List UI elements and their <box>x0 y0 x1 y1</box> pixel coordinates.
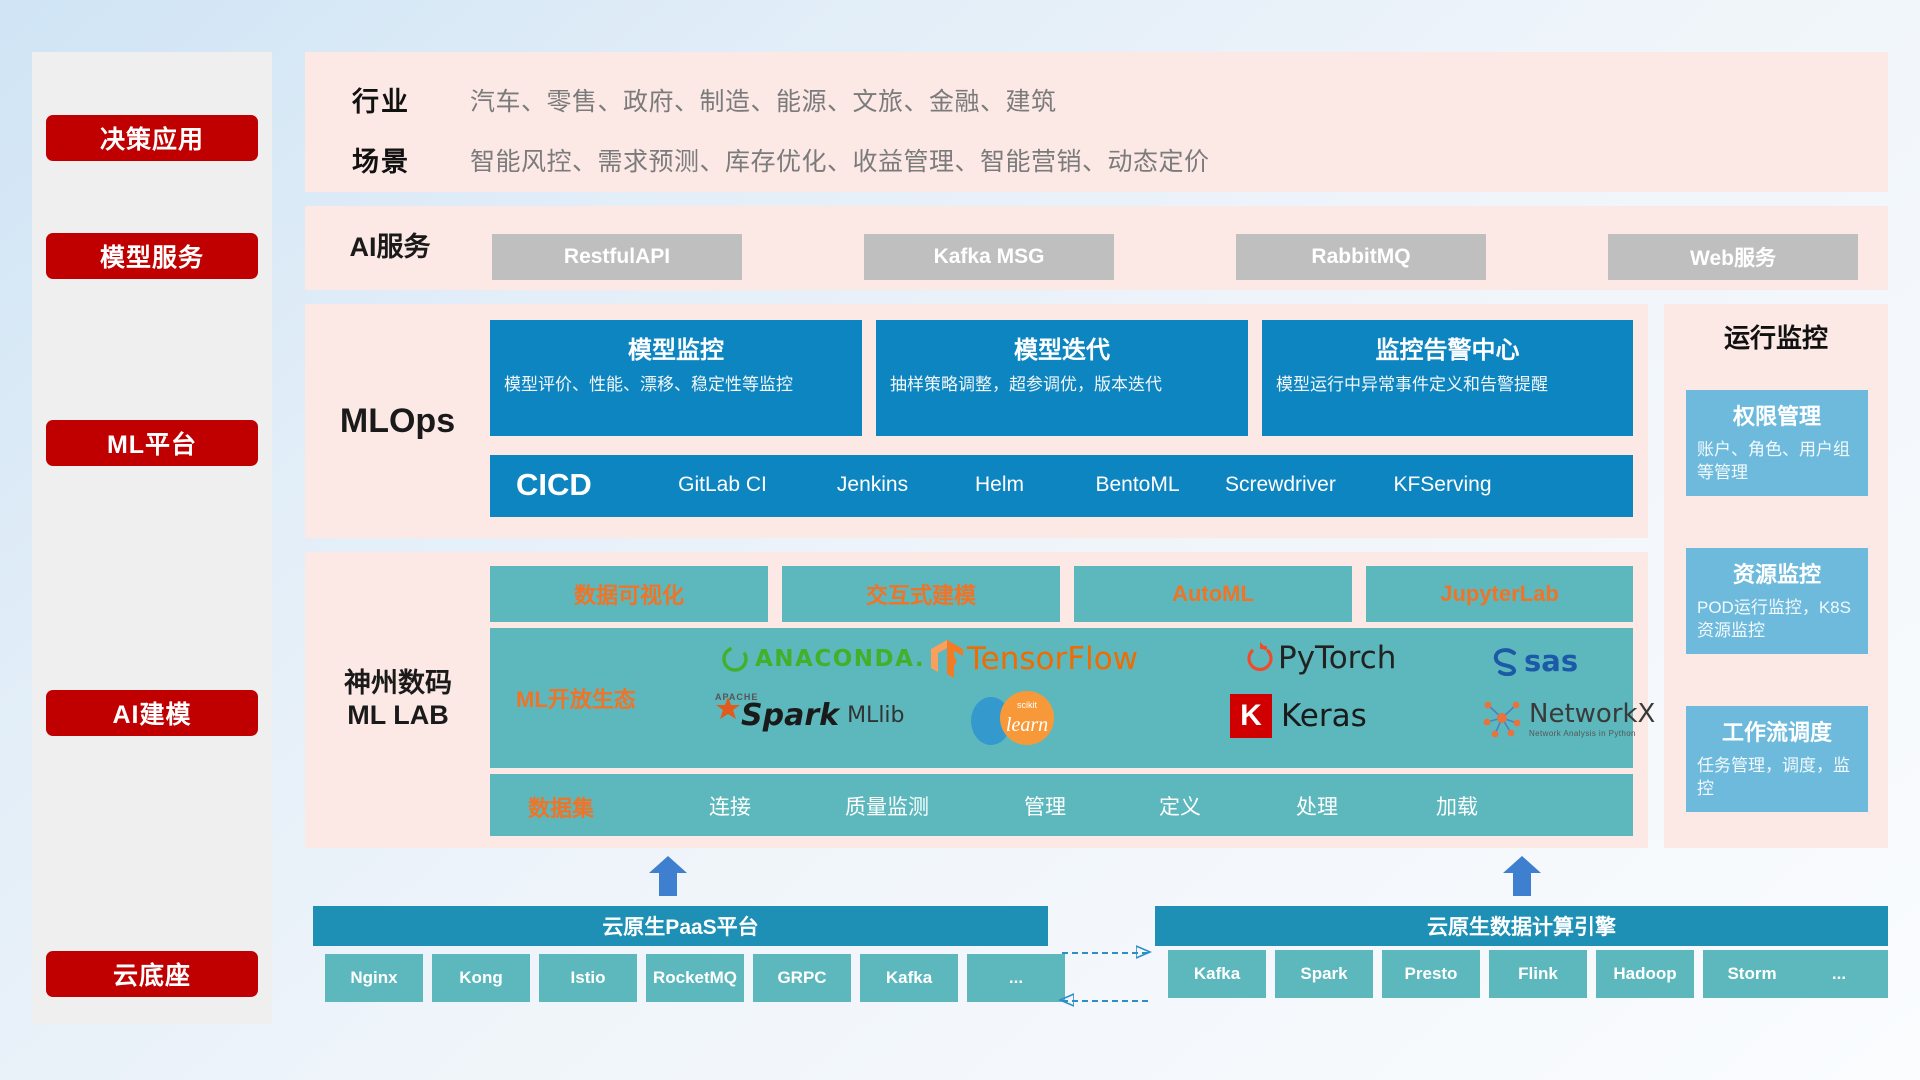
ai-service-label: AI服务 <box>325 206 455 290</box>
paas-chip-grpc[interactable]: GRPC <box>753 954 851 1002</box>
monitor-card-desc: POD运行监控，K8S资源监控 <box>1697 596 1857 643</box>
cloud-native-paas-bar[interactable]: 云原生PaaS平台 <box>313 906 1048 946</box>
cloud-connector-right-arrow-icon <box>1136 945 1152 959</box>
lab-tool-jupyterlab[interactable]: JupyterLab <box>1366 566 1633 622</box>
engine-chip-flink[interactable]: Flink <box>1489 950 1587 998</box>
spark-mllib-logo: APACHE Spark MLlib <box>715 698 905 733</box>
paas-chip-kong[interactable]: Kong <box>432 954 530 1002</box>
lab-tool-interactive-modeling[interactable]: 交互式建模 <box>782 566 1060 622</box>
mlops-card-alert-center[interactable]: 监控告警中心 模型运行中异常事件定义和告警提醒 <box>1262 320 1633 436</box>
dataset-step-definition[interactable]: 定义 <box>1125 791 1235 821</box>
industry-label: 行业 <box>352 80 470 119</box>
keras-logo: K Keras <box>1230 694 1367 738</box>
sas-logo: sas <box>1490 644 1578 678</box>
networkx-logo: NetworkX Network Analysis in Python <box>1480 696 1655 740</box>
scenario-row: 场景 智能风控、需求预测、库存优化、收益管理、智能营销、动态定价 <box>352 140 1210 179</box>
mlops-card-title: 监控告警中心 <box>1276 330 1619 365</box>
service-chip-restfulapi[interactable]: RestfulAPI <box>492 234 742 280</box>
ml-lab-label: 神州数码 ML LAB <box>318 552 478 848</box>
pytorch-mark-icon <box>1245 641 1275 675</box>
mlops-card-desc: 模型评价、性能、漂移、稳定性等监控 <box>504 373 848 396</box>
mlops-card-title: 模型迭代 <box>890 330 1234 365</box>
anaconda-logo: ANACONDA. <box>720 644 925 674</box>
mlops-label: MLOps <box>325 304 470 538</box>
dataset-step-connect[interactable]: 连接 <box>675 791 785 821</box>
engine-chip-storm[interactable]: Storm <box>1703 950 1801 998</box>
engine-chip-spark[interactable]: Spark <box>1275 950 1373 998</box>
scenario-list: 智能风控、需求预测、库存优化、收益管理、智能营销、动态定价 <box>470 142 1210 178</box>
cicd-item-jenkins[interactable]: Jenkins <box>820 471 925 498</box>
data-engine-up-arrow-icon <box>1501 856 1543 896</box>
runtime-monitoring-title: 运行监控 <box>1664 318 1888 355</box>
layer-rail: 决策应用 模型服务 ML平台 AI建模 云底座 <box>32 52 272 1024</box>
rail-chip-cloud-base[interactable]: 云底座 <box>46 951 258 997</box>
ml-lab-label-line2: ML LAB <box>344 700 452 732</box>
paas-chip-kafka[interactable]: Kafka <box>860 954 958 1002</box>
scikit-learn-mark-icon: scikit learn <box>965 690 1073 748</box>
tensorflow-logo: TensorFlow <box>930 638 1138 680</box>
scikit-learn-logo: scikit learn <box>965 690 1073 748</box>
mlops-card-desc: 模型运行中异常事件定义和告警提醒 <box>1276 373 1619 396</box>
rail-chip-model-service[interactable]: 模型服务 <box>46 233 258 279</box>
engine-chip-presto[interactable]: Presto <box>1382 950 1480 998</box>
tensorflow-wordmark: TensorFlow <box>967 641 1138 677</box>
mlops-card-desc: 抽样策略调整，超参调优，版本迭代 <box>890 373 1234 396</box>
sas-mark-icon <box>1490 646 1522 676</box>
monitor-card-title: 权限管理 <box>1697 399 1857 431</box>
svg-text:learn: learn <box>1006 714 1048 736</box>
engine-chip-kafka[interactable]: Kafka <box>1168 950 1266 998</box>
paas-chip-rocketmq[interactable]: RocketMQ <box>646 954 744 1002</box>
networkx-wordmark: NetworkX <box>1529 699 1655 729</box>
service-chip-rabbitmq[interactable]: RabbitMQ <box>1236 234 1486 280</box>
cicd-item-helm[interactable]: Helm <box>947 471 1052 498</box>
cloud-native-data-engine-bar[interactable]: 云原生数据计算引擎 <box>1155 906 1888 946</box>
cicd-heading: CICD <box>516 467 592 503</box>
cicd-item-bentoml[interactable]: BentoML <box>1085 471 1190 498</box>
dataset-label: 数据集 <box>528 791 594 823</box>
paas-chip-istio[interactable]: Istio <box>539 954 637 1002</box>
monitor-card-desc: 任务管理，调度，监控 <box>1697 754 1857 801</box>
spark-wordmark: Spark <box>741 698 839 733</box>
paas-up-arrow-icon <box>647 856 689 896</box>
industry-list: 汽车、零售、政府、制造、能源、文旅、金融、建筑 <box>470 82 1057 118</box>
dataset-step-management[interactable]: 管理 <box>990 791 1100 821</box>
rail-chip-decision[interactable]: 决策应用 <box>46 115 258 161</box>
cloud-connector-left-arrow-icon <box>1058 993 1074 1007</box>
sas-wordmark: sas <box>1524 644 1578 678</box>
mlops-card-model-monitoring[interactable]: 模型监控 模型评价、性能、漂移、稳定性等监控 <box>490 320 862 436</box>
lab-tool-data-visualization[interactable]: 数据可视化 <box>490 566 768 622</box>
pytorch-wordmark: PyTorch <box>1278 640 1396 676</box>
tensorflow-mark-icon <box>930 638 964 680</box>
architecture-diagram: 决策应用 模型服务 ML平台 AI建模 云底座 行业 汽车、零售、政府、制造、能… <box>0 0 1920 1080</box>
anaconda-wordmark: ANACONDA. <box>755 646 925 672</box>
keras-mark-icon: K <box>1230 694 1272 738</box>
monitor-card-title: 工作流调度 <box>1697 715 1857 747</box>
monitor-card-permission-management[interactable]: 权限管理 账户、角色、用户组等管理 <box>1686 390 1868 496</box>
networkx-mark-icon <box>1480 696 1524 740</box>
engine-chip-more[interactable]: ... <box>1790 950 1888 998</box>
pytorch-logo: PyTorch <box>1245 640 1396 676</box>
ml-open-ecosystem-label: ML开放生态 <box>516 682 636 714</box>
cicd-bar: CICD GitLab CI Jenkins Helm BentoML Scre… <box>490 455 1633 517</box>
monitor-card-resource-monitoring[interactable]: 资源监控 POD运行监控，K8S资源监控 <box>1686 548 1868 654</box>
dataset-pipeline-bar: 数据集 连接 质量监测 管理 定义 处理 加载 <box>490 774 1633 836</box>
industry-row: 行业 汽车、零售、政府、制造、能源、文旅、金融、建筑 <box>352 80 1057 119</box>
networkx-tagline: Network Analysis in Python <box>1529 729 1655 738</box>
monitor-card-desc: 账户、角色、用户组等管理 <box>1697 438 1857 485</box>
cicd-item-kfserving[interactable]: KFServing <box>1390 471 1495 498</box>
ml-lab-label-line1: 神州数码 <box>344 668 452 700</box>
dataset-step-quality-monitoring[interactable]: 质量监测 <box>812 791 962 821</box>
engine-chip-hadoop[interactable]: Hadoop <box>1596 950 1694 998</box>
cloud-connector-bottom <box>1062 1000 1148 1002</box>
paas-chip-more[interactable]: ... <box>967 954 1065 1002</box>
mlops-card-title: 模型监控 <box>504 330 848 365</box>
rail-chip-ml-platform[interactable]: ML平台 <box>46 420 258 466</box>
rail-chip-ai-modeling[interactable]: AI建模 <box>46 690 258 736</box>
dataset-step-loading[interactable]: 加载 <box>1402 791 1512 821</box>
anaconda-mark-icon <box>720 644 750 674</box>
lab-tool-automl[interactable]: AutoML <box>1074 566 1352 622</box>
svg-text:scikit: scikit <box>1017 700 1037 710</box>
scenario-label: 场景 <box>352 140 470 179</box>
spark-mllib-text: MLlib <box>847 703 904 728</box>
spark-apache-text: APACHE <box>715 692 758 702</box>
monitor-card-title: 资源监控 <box>1697 557 1857 589</box>
paas-chip-nginx[interactable]: Nginx <box>325 954 423 1002</box>
dataset-step-processing[interactable]: 处理 <box>1262 791 1372 821</box>
cicd-item-screwdriver[interactable]: Screwdriver <box>1225 471 1330 498</box>
ml-open-ecosystem-panel: ML开放生态 ANACONDA. TensorFlow PyTorc <box>490 628 1633 768</box>
service-chip-web-service[interactable]: Web服务 <box>1608 234 1858 280</box>
monitor-card-workflow-scheduling[interactable]: 工作流调度 任务管理，调度，监控 <box>1686 706 1868 812</box>
keras-wordmark: Keras <box>1281 698 1367 734</box>
cicd-item-gitlab-ci[interactable]: GitLab CI <box>670 471 775 498</box>
mlops-card-model-iteration[interactable]: 模型迭代 抽样策略调整，超参调优，版本迭代 <box>876 320 1248 436</box>
service-chip-kafka-msg[interactable]: Kafka MSG <box>864 234 1114 280</box>
